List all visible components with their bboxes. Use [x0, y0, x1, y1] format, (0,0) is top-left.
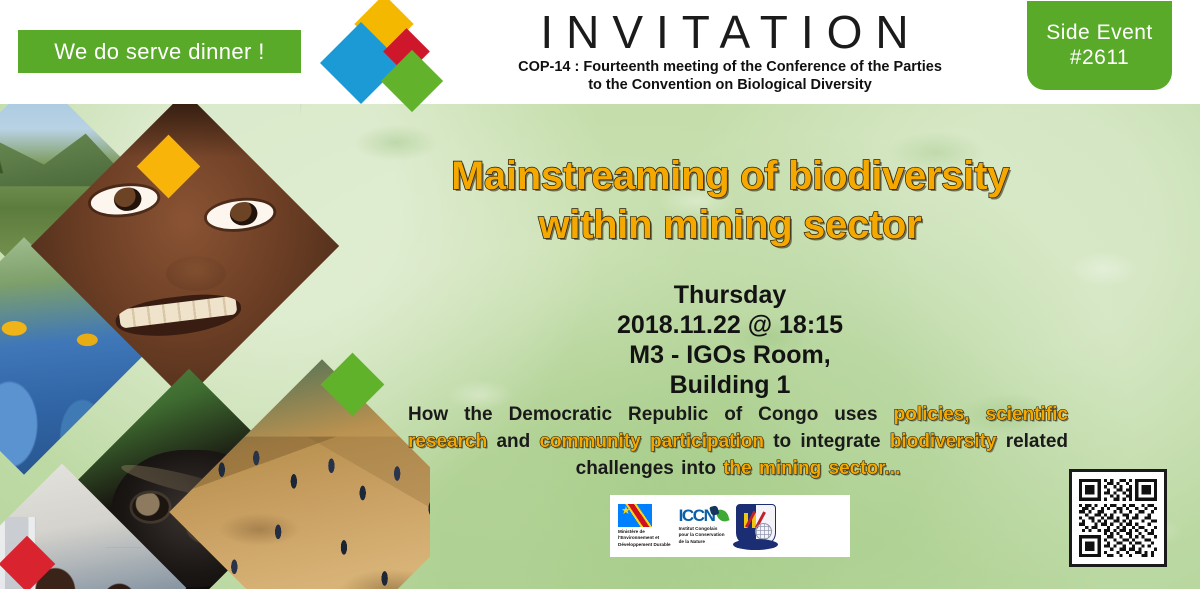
- child-right-eye: [206, 198, 275, 232]
- description-part-3: to integrate: [764, 431, 890, 452]
- description-part-2: and: [487, 431, 539, 452]
- dinner-banner-label: We do serve dinner !: [54, 39, 265, 65]
- description-part-1: How the Democratic Republic of Congo use…: [408, 404, 894, 425]
- iccn-caption-line-2: pour la Conservation: [679, 532, 725, 538]
- event-description: How the Democratic Republic of Congo use…: [408, 401, 1068, 482]
- dinner-banner: We do serve dinner !: [18, 30, 301, 73]
- side-event-number: #2611: [1070, 46, 1129, 71]
- crest-globe-icon: [755, 523, 772, 540]
- iccn-caption: Institut Congolais pour la Conservation …: [679, 526, 725, 545]
- event-building: Building 1: [520, 370, 940, 400]
- side-event-badge: Side Event #2611: [1027, 1, 1172, 90]
- event-room: M3 - IGOs Room,: [520, 340, 940, 370]
- child-left-eye: [89, 183, 158, 217]
- gorilla-left-eye: [132, 494, 169, 521]
- description-highlight-community-participation: community participation: [539, 431, 764, 452]
- description-highlight-biodiversity: biodiversity: [890, 431, 997, 452]
- description-highlight-policies: policies,: [894, 404, 970, 425]
- description-highlight-mining-sector: the mining sector...: [723, 458, 900, 479]
- cop-subtitle: COP-14 : Fourteenth meeting of the Confe…: [440, 58, 1020, 94]
- qr-code-icon: [1079, 479, 1157, 557]
- cop-subtitle-line-2: to the Convention on Biological Diversit…: [440, 76, 1020, 94]
- invitation-poster: We do serve dinner ! INVITATION COP-14 :…: [0, 0, 1200, 589]
- iccn-mark-row: ICCN: [679, 507, 728, 524]
- qr-code[interactable]: [1069, 469, 1167, 567]
- crest-torch-icon: [744, 513, 748, 527]
- drc-flag-star-icon: ★: [621, 506, 631, 517]
- crest-ribbon: [733, 539, 778, 550]
- event-datetime: 2018.11.22 @ 18:15: [520, 310, 940, 340]
- event-schedule: Thursday 2018.11.22 @ 18:15 M3 - IGOs Ro…: [520, 280, 940, 400]
- crest-emblem-logo: [736, 504, 776, 548]
- iccn-caption-line-3: de la Nature: [679, 539, 725, 545]
- cbd-diamond-logo: [318, 2, 446, 102]
- drc-ministry-caption-line-3: Développement Durable: [618, 542, 671, 548]
- drc-ministry-logo: ★ Ministère de l'Environnement et Dévelo…: [618, 504, 671, 548]
- child-mouth: [114, 289, 244, 342]
- poster-header: We do serve dinner ! INVITATION COP-14 :…: [0, 0, 1200, 104]
- drc-flag-icon: ★: [618, 504, 652, 527]
- partner-logo-strip: ★ Ministère de l'Environnement et Dévelo…: [610, 495, 850, 557]
- drc-ministry-caption: Ministère de l'Environnement et Développ…: [618, 529, 671, 548]
- photo-collage: [0, 104, 430, 589]
- event-day: Thursday: [520, 280, 940, 310]
- iccn-leaf-icon: [715, 508, 729, 524]
- event-title-line-1: Mainstreaming of biodiversity: [400, 152, 1060, 201]
- event-title: Mainstreaming of biodiversity within min…: [400, 152, 1060, 250]
- cop-subtitle-line-1: COP-14 : Fourteenth meeting of the Confe…: [440, 58, 1020, 76]
- child-earring: [300, 290, 312, 302]
- iccn-logo: ICCN Institut Congolais pour la Conserva…: [679, 507, 728, 545]
- invitation-heading: INVITATION: [506, 5, 956, 59]
- child-nose: [166, 255, 226, 290]
- event-title-line-2: within mining sector: [400, 201, 1060, 250]
- side-event-label: Side Event: [1046, 21, 1153, 46]
